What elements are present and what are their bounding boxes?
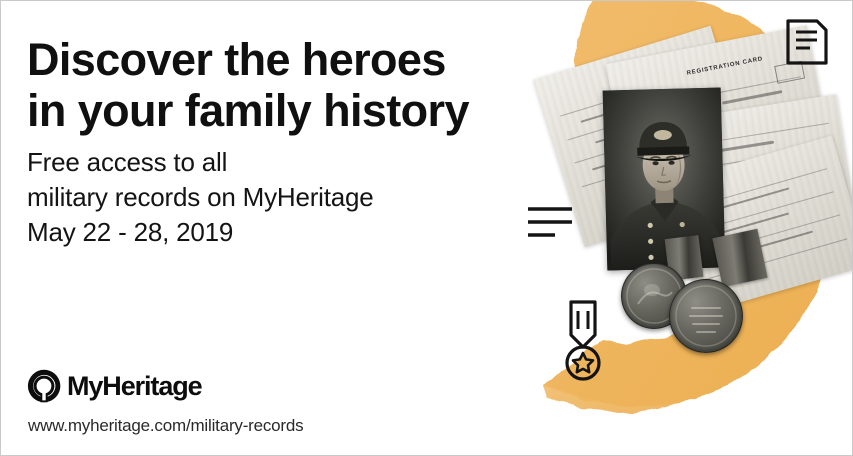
myheritage-logo[interactable]: MyHeritage xyxy=(27,369,202,403)
medal-star-icon xyxy=(559,299,607,383)
banner-text-column: Discover the heroes in your family histo… xyxy=(27,1,497,455)
myheritage-wordmark: MyHeritage xyxy=(67,373,202,400)
registration-card-caption: REGISTRATION CARD xyxy=(686,56,763,77)
promotional-banner: REGISTRATION CARD xyxy=(0,0,853,456)
collage-medal-right xyxy=(669,279,743,353)
collage-soldier-portrait xyxy=(603,87,726,270)
myheritage-tree-circle-icon xyxy=(27,369,61,403)
promo-url[interactable]: www.myheritage.com/military-records xyxy=(28,416,303,436)
subheadline: Free access to all military records on M… xyxy=(27,145,497,250)
headline: Discover the heroes in your family histo… xyxy=(27,34,497,136)
document-icon xyxy=(784,17,830,67)
collage-medal-ribbon-right xyxy=(712,229,767,287)
text-lines-icon xyxy=(527,205,573,239)
